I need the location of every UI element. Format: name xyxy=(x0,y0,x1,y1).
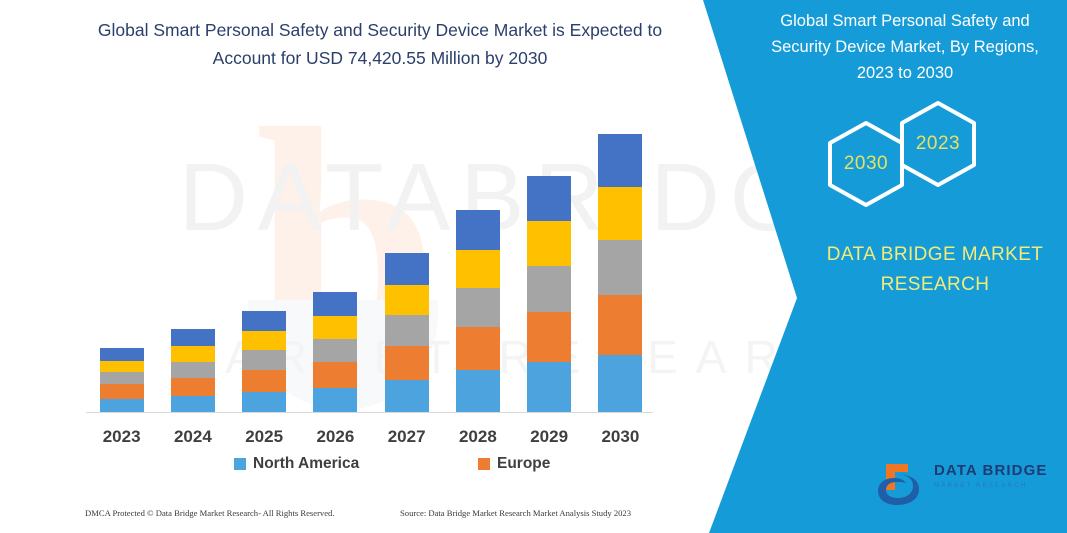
bar-segment-2026-s2 xyxy=(313,362,357,388)
x-axis-label-2024: 2024 xyxy=(158,427,228,447)
bar-2028 xyxy=(456,210,500,412)
bar-2024 xyxy=(171,329,215,412)
bar-segment-2025-s4 xyxy=(242,331,286,350)
legend-label: Europe xyxy=(497,455,550,473)
chart-legend: North AmericaEurope xyxy=(86,455,656,477)
bar-segment-2027-s4 xyxy=(385,285,429,315)
bar-2025 xyxy=(242,311,286,412)
bar-segment-2029-s5 xyxy=(527,176,571,221)
brand-wordmark-line1: DATA BRIDGE MARKET xyxy=(790,240,1067,270)
x-axis-label-2028: 2028 xyxy=(443,427,513,447)
x-axis-label-2023: 2023 xyxy=(87,427,157,447)
x-axis-label-2030: 2030 xyxy=(585,427,655,447)
infographic-root: b DATABRIDGE MARKET RESEARCH Global Smar… xyxy=(0,0,1067,533)
bar-segment-2025-s2 xyxy=(242,370,286,392)
bar-segment-2029-s3 xyxy=(527,266,571,312)
bar-segment-2027-s2 xyxy=(385,346,429,380)
x-axis-label-2026: 2026 xyxy=(300,427,370,447)
bar-segment-2024-s2 xyxy=(171,378,215,396)
right-panel-title: Global Smart Personal Safety and Securit… xyxy=(760,8,1050,86)
chart-title: Global Smart Personal Safety and Securit… xyxy=(70,16,690,72)
bar-segment-2028-s5 xyxy=(456,210,500,250)
bar-segment-2025-s3 xyxy=(242,350,286,370)
bar-segment-2024-s5 xyxy=(171,329,215,346)
bar-segment-2028-s3 xyxy=(456,288,500,327)
legend-swatch-icon xyxy=(234,458,246,470)
data-bridge-logo-text: DATA BRIDGE MARKET RESEARCH xyxy=(934,462,1054,492)
hex-badge-group: 2030 2023 xyxy=(820,98,1030,210)
data-bridge-logo: DATA BRIDGE MARKET RESEARCH xyxy=(878,458,1053,510)
bar-2023 xyxy=(100,348,144,412)
stacked-bar-chart xyxy=(86,112,656,412)
logo-subtitle: MARKET RESEARCH xyxy=(934,480,1054,492)
footer: DMCA Protected © Data Bridge Market Rese… xyxy=(0,508,700,526)
bar-segment-2028-s2 xyxy=(456,327,500,370)
bar-segment-2027-s5 xyxy=(385,253,429,285)
brand-wordmark-line2: RESEARCH xyxy=(790,270,1067,300)
bar-segment-2026-s5 xyxy=(313,292,357,316)
bar-segment-2023-s1 xyxy=(100,399,144,412)
bar-segment-2025-s1 xyxy=(242,392,286,412)
bar-segment-2024-s3 xyxy=(171,362,215,378)
bar-2029 xyxy=(527,176,571,412)
bar-segment-2029-s4 xyxy=(527,221,571,266)
bar-segment-2023-s5 xyxy=(100,348,144,361)
bar-segment-2030-s4 xyxy=(598,187,642,240)
bar-segment-2030-s5 xyxy=(598,134,642,187)
bar-2026 xyxy=(313,292,357,412)
bar-2027 xyxy=(385,253,429,412)
bar-segment-2028-s1 xyxy=(456,370,500,412)
bar-segment-2026-s3 xyxy=(313,339,357,362)
x-axis-labels: 20232024202520262027202820292030 xyxy=(86,427,656,451)
x-axis-line xyxy=(86,412,653,413)
footer-dmca: DMCA Protected © Data Bridge Market Rese… xyxy=(85,508,335,518)
bar-segment-2029-s1 xyxy=(527,362,571,412)
bar-segment-2028-s4 xyxy=(456,250,500,288)
data-bridge-logo-mark xyxy=(878,460,930,508)
bar-segment-2023-s2 xyxy=(100,384,144,399)
bar-2030 xyxy=(598,134,642,412)
bar-segment-2027-s1 xyxy=(385,380,429,412)
bar-segment-2026-s1 xyxy=(313,388,357,412)
bar-segment-2029-s2 xyxy=(527,312,571,362)
footer-source: Source: Data Bridge Market Research Mark… xyxy=(400,508,631,518)
bar-segment-2023-s3 xyxy=(100,372,144,384)
logo-b-icon xyxy=(878,460,930,508)
legend-swatch-icon xyxy=(478,458,490,470)
x-axis-label-2027: 2027 xyxy=(372,427,442,447)
x-axis-label-2029: 2029 xyxy=(514,427,584,447)
bar-segment-2024-s4 xyxy=(171,346,215,362)
bar-segment-2030-s1 xyxy=(598,355,642,412)
bar-segment-2030-s2 xyxy=(598,295,642,355)
legend-item-north-america[interactable]: North America xyxy=(234,455,359,473)
x-axis-label-2025: 2025 xyxy=(229,427,299,447)
bar-segment-2026-s4 xyxy=(313,316,357,339)
legend-label: North America xyxy=(253,455,359,473)
bar-segment-2025-s5 xyxy=(242,311,286,331)
brand-wordmark: DATA BRIDGE MARKET RESEARCH xyxy=(790,240,1067,300)
bar-segment-2024-s1 xyxy=(171,396,215,412)
hex-badge-2023-label: 2023 xyxy=(892,133,984,155)
logo-name: DATA BRIDGE xyxy=(934,462,1054,480)
hex-badge-2023: 2023 xyxy=(892,98,984,190)
legend-item-europe[interactable]: Europe xyxy=(478,455,550,473)
bar-segment-2030-s3 xyxy=(598,240,642,295)
bar-segment-2023-s4 xyxy=(100,361,144,372)
bar-segment-2027-s3 xyxy=(385,315,429,346)
